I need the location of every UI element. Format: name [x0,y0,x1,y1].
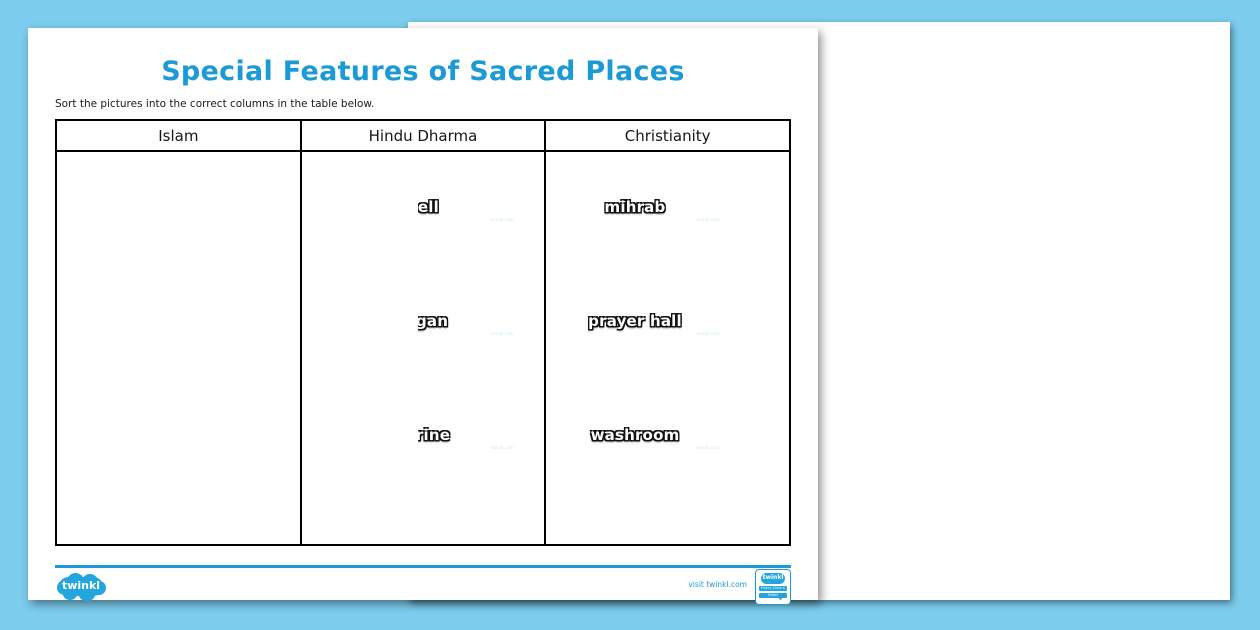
instruction-text: Sort the pictures into the correct colum… [55,98,791,110]
twinkl-watermark: twinkl.com [697,445,720,450]
drop-zone-islam[interactable] [56,151,301,545]
twinkl-logo-text: twinkl [55,579,107,592]
badge-twinkl-logo: twinkl [761,573,785,584]
card-label: organ [418,312,517,330]
card-label: prayer hall [547,312,723,330]
twinkl-watermark: twinkl.com [697,217,720,222]
card-label: shrine [418,426,517,444]
twinkl-watermark: twinkl.com [491,445,514,450]
column-header-islam: Islam [56,120,301,151]
column-header-hindu-dharma: Hindu Dharma [301,120,546,151]
visit-twinkl-link[interactable]: visit twinkl.com [688,580,747,589]
twinkl-logo[interactable]: twinkl [55,572,107,599]
twinkl-watermark: twinkl.com [697,331,720,336]
sorting-table: Islam Hindu Dharma Christianity [55,119,791,546]
table-header-row: Islam Hindu Dharma Christianity [56,120,790,151]
footer-divider [55,565,791,568]
column-header-christianity: Christianity [545,120,790,151]
twinkl-watermark: twinkl.com [491,217,514,222]
card-label: washroom [547,426,723,444]
page-title: Special Features of Sacred Places [55,28,791,87]
card-label: mihrab [547,198,723,216]
page-footer: twinkl visit twinkl.com twinkl Every Chi… [55,569,791,603]
accreditation-badge: twinkl Every Child a Talker ✓ [755,569,791,605]
twinkl-watermark: twinkl.com [491,331,514,336]
card-label: bell [418,198,517,216]
screenshot-stage: bell twinkl.com mihrab twinkl.com organ … [0,0,1260,630]
badge-logo-text: twinkl [761,574,785,581]
check-icon: ✓ [777,590,788,603]
